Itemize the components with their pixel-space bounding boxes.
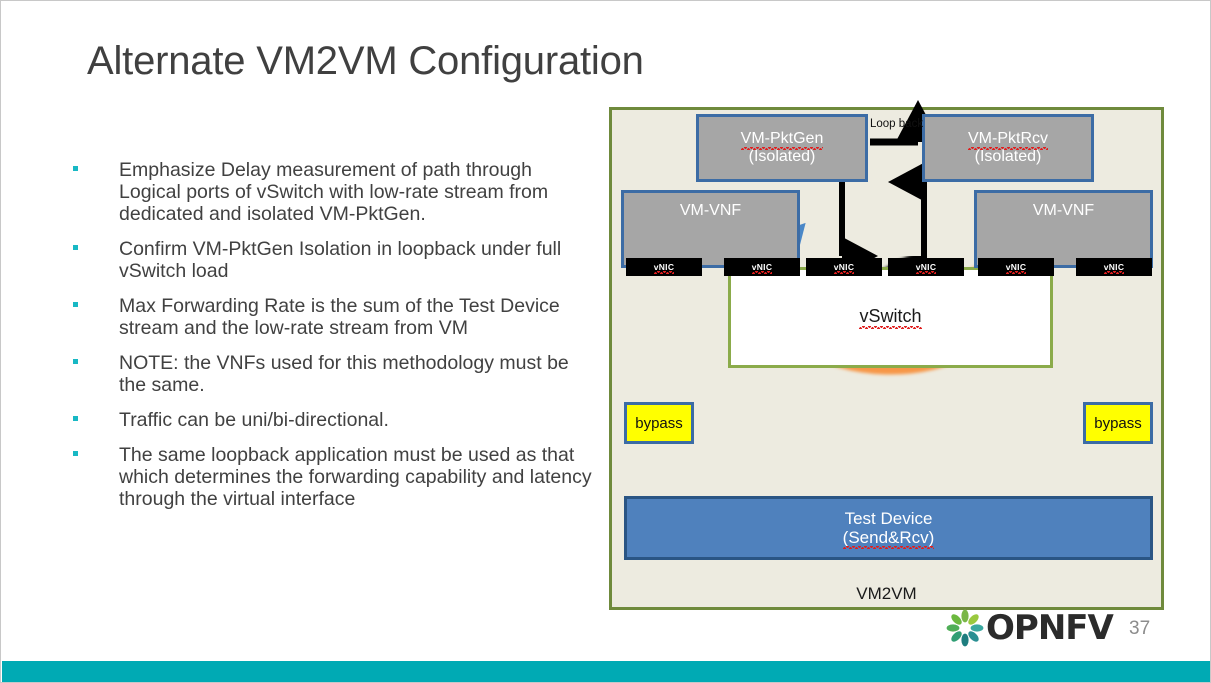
opnfv-logo: OPNFV: [944, 608, 1113, 648]
vm-pktrcv-line1: VM-PktRcv: [968, 130, 1048, 148]
vnic-1[interactable]: vNIC: [626, 258, 702, 276]
bullet-text: Confirm VM-PktGen Isolation in loopback …: [119, 238, 597, 282]
vswitch-label-text: vSwitch: [859, 306, 921, 327]
slide-canvas: Alternate VM2VM Configuration Emphasize …: [0, 0, 1211, 683]
page-number: 37: [1129, 618, 1150, 640]
bullet-text: Max Forwarding Rate is the sum of the Te…: [119, 295, 597, 339]
list-item: Traffic can be uni/bi-directional.: [67, 409, 597, 431]
vm-vnf-right-label: VM-VNF: [1033, 202, 1094, 220]
bypass-left-box[interactable]: bypass: [624, 402, 694, 444]
bullet-marker-icon: [67, 444, 119, 456]
loopback-label: Loop back: [870, 118, 923, 130]
vm-pktgen-line2: (Isolated): [749, 148, 816, 166]
vnic-label: vNIC: [752, 262, 773, 272]
bullet-text: Traffic can be uni/bi-directional.: [119, 409, 597, 431]
vnic-6[interactable]: vNIC: [1076, 258, 1152, 276]
vnic-3[interactable]: vNIC: [806, 258, 882, 276]
opnfv-wordmark: OPNFV: [986, 608, 1113, 648]
list-item: Emphasize Delay measurement of path thro…: [67, 159, 597, 225]
test-device-line2: (Send&Rcv): [843, 528, 935, 547]
list-item: The same loopback application must be us…: [67, 444, 597, 510]
page-title: Alternate VM2VM Configuration: [87, 39, 644, 84]
vnic-label: vNIC: [916, 262, 937, 272]
test-device-line1: Test Device: [845, 509, 933, 528]
vm-vnf-right-box[interactable]: VM-VNF: [974, 190, 1153, 268]
list-item: Max Forwarding Rate is the sum of the Te…: [67, 295, 597, 339]
bullet-text: NOTE: the VNFs used for this methodology…: [119, 352, 597, 396]
bypass-right-label: bypass: [1094, 415, 1142, 432]
vnic-label: vNIC: [1104, 262, 1125, 272]
vnic-label: vNIC: [834, 262, 855, 272]
vnic-label: vNIC: [1006, 262, 1027, 272]
bypass-right-box[interactable]: bypass: [1083, 402, 1153, 444]
bullet-marker-icon: [67, 409, 119, 421]
vnic-5[interactable]: vNIC: [978, 258, 1054, 276]
vm2vm-frame-label: VM2VM: [612, 584, 1161, 604]
bullet-list: Emphasize Delay measurement of path thro…: [67, 159, 597, 523]
vnic-2[interactable]: vNIC: [724, 258, 800, 276]
opnfv-petal-icon: [944, 608, 986, 648]
vm2vm-diagram: vSwitch VM-PktGen (Isolated) VM-PktRcv (…: [609, 107, 1164, 610]
vm-pktgen-line1: VM-PktGen: [741, 130, 824, 148]
vswitch-label: vSwitch: [728, 306, 1053, 327]
list-item: NOTE: the VNFs used for this methodology…: [67, 352, 597, 396]
bullet-marker-icon: [67, 159, 119, 171]
vnic-label: vNIC: [654, 262, 675, 272]
bullet-text: The same loopback application must be us…: [119, 444, 597, 510]
vnic-4[interactable]: vNIC: [888, 258, 964, 276]
bullet-marker-icon: [67, 295, 119, 307]
bullet-marker-icon: [67, 352, 119, 364]
list-item: Confirm VM-PktGen Isolation in loopback …: [67, 238, 597, 282]
bypass-left-label: bypass: [635, 415, 683, 432]
bullet-marker-icon: [67, 238, 119, 250]
bullet-text: Emphasize Delay measurement of path thro…: [119, 159, 597, 225]
footer-accent-bar: [2, 661, 1211, 682]
vm-vnf-left-box[interactable]: VM-VNF: [621, 190, 800, 268]
vm-pktrcv-line2: (Isolated): [975, 148, 1042, 166]
test-device-box[interactable]: Test Device (Send&Rcv): [624, 496, 1153, 560]
vm-pktrcv-box[interactable]: VM-PktRcv (Isolated): [922, 114, 1094, 182]
vm-vnf-left-label: VM-VNF: [680, 202, 741, 220]
vm-pktgen-box[interactable]: VM-PktGen (Isolated): [696, 114, 868, 182]
